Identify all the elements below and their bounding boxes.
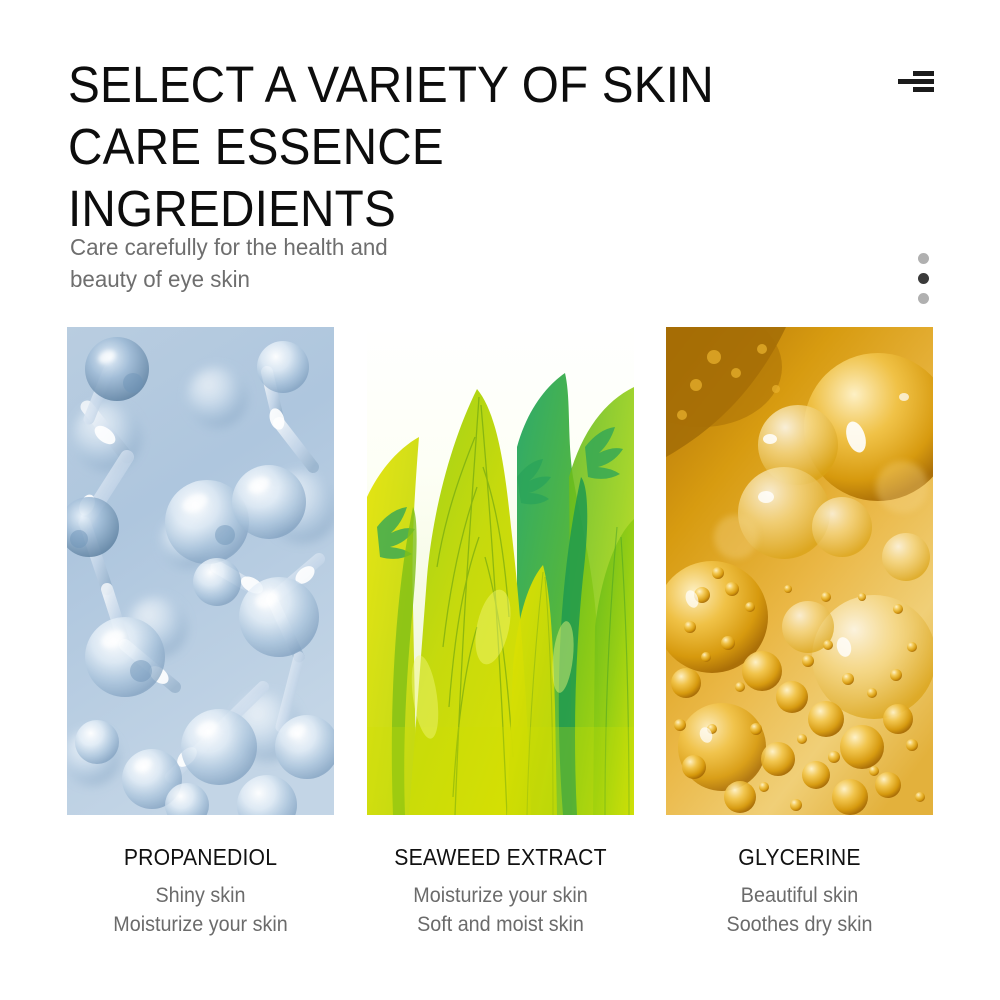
menu-bar-bottom [913, 87, 934, 92]
molecule-structure-image[interactable] [67, 327, 334, 815]
ingredient-card-list: PROPANEDIOL Shiny skin Moisturize your s… [67, 327, 933, 939]
card-description: Moisturize your skin Soft and moist skin [375, 881, 626, 939]
pagination-dot-1[interactable] [918, 253, 929, 264]
golden-oil-bubbles-image[interactable] [666, 327, 933, 815]
menu-bar-top [913, 71, 934, 76]
card-title: PROPANEDIOL [78, 844, 324, 870]
card-title: GLYCERINE [677, 844, 923, 870]
pagination-dots [916, 253, 930, 304]
card-description: Shiny skin Moisturize your skin [75, 881, 326, 939]
card-title: SEAWEED EXTRACT [377, 844, 623, 870]
hamburger-menu-icon[interactable] [898, 68, 934, 98]
ingredient-card-seaweed-extract: SEAWEED EXTRACT Moisturize your skin Sof… [367, 327, 634, 939]
pagination-dot-2[interactable] [918, 273, 929, 284]
ingredient-card-propanediol: PROPANEDIOL Shiny skin Moisturize your s… [67, 327, 334, 939]
promo-page: SELECT A VARIETY OF SKIN CARE ESSENCE IN… [0, 0, 1000, 1000]
page-title: SELECT A VARIETY OF SKIN CARE ESSENCE IN… [68, 54, 779, 240]
card-description: Beautiful skin Soothes dry skin [674, 881, 925, 939]
pagination-dot-3[interactable] [918, 293, 929, 304]
page-subtitle: Care carefully for the health and beauty… [70, 231, 517, 295]
menu-bar-middle [898, 79, 934, 84]
ingredient-card-glycerine: GLYCERINE Beautiful skin Soothes dry ski… [666, 327, 933, 939]
seaweed-image[interactable] [367, 327, 634, 815]
